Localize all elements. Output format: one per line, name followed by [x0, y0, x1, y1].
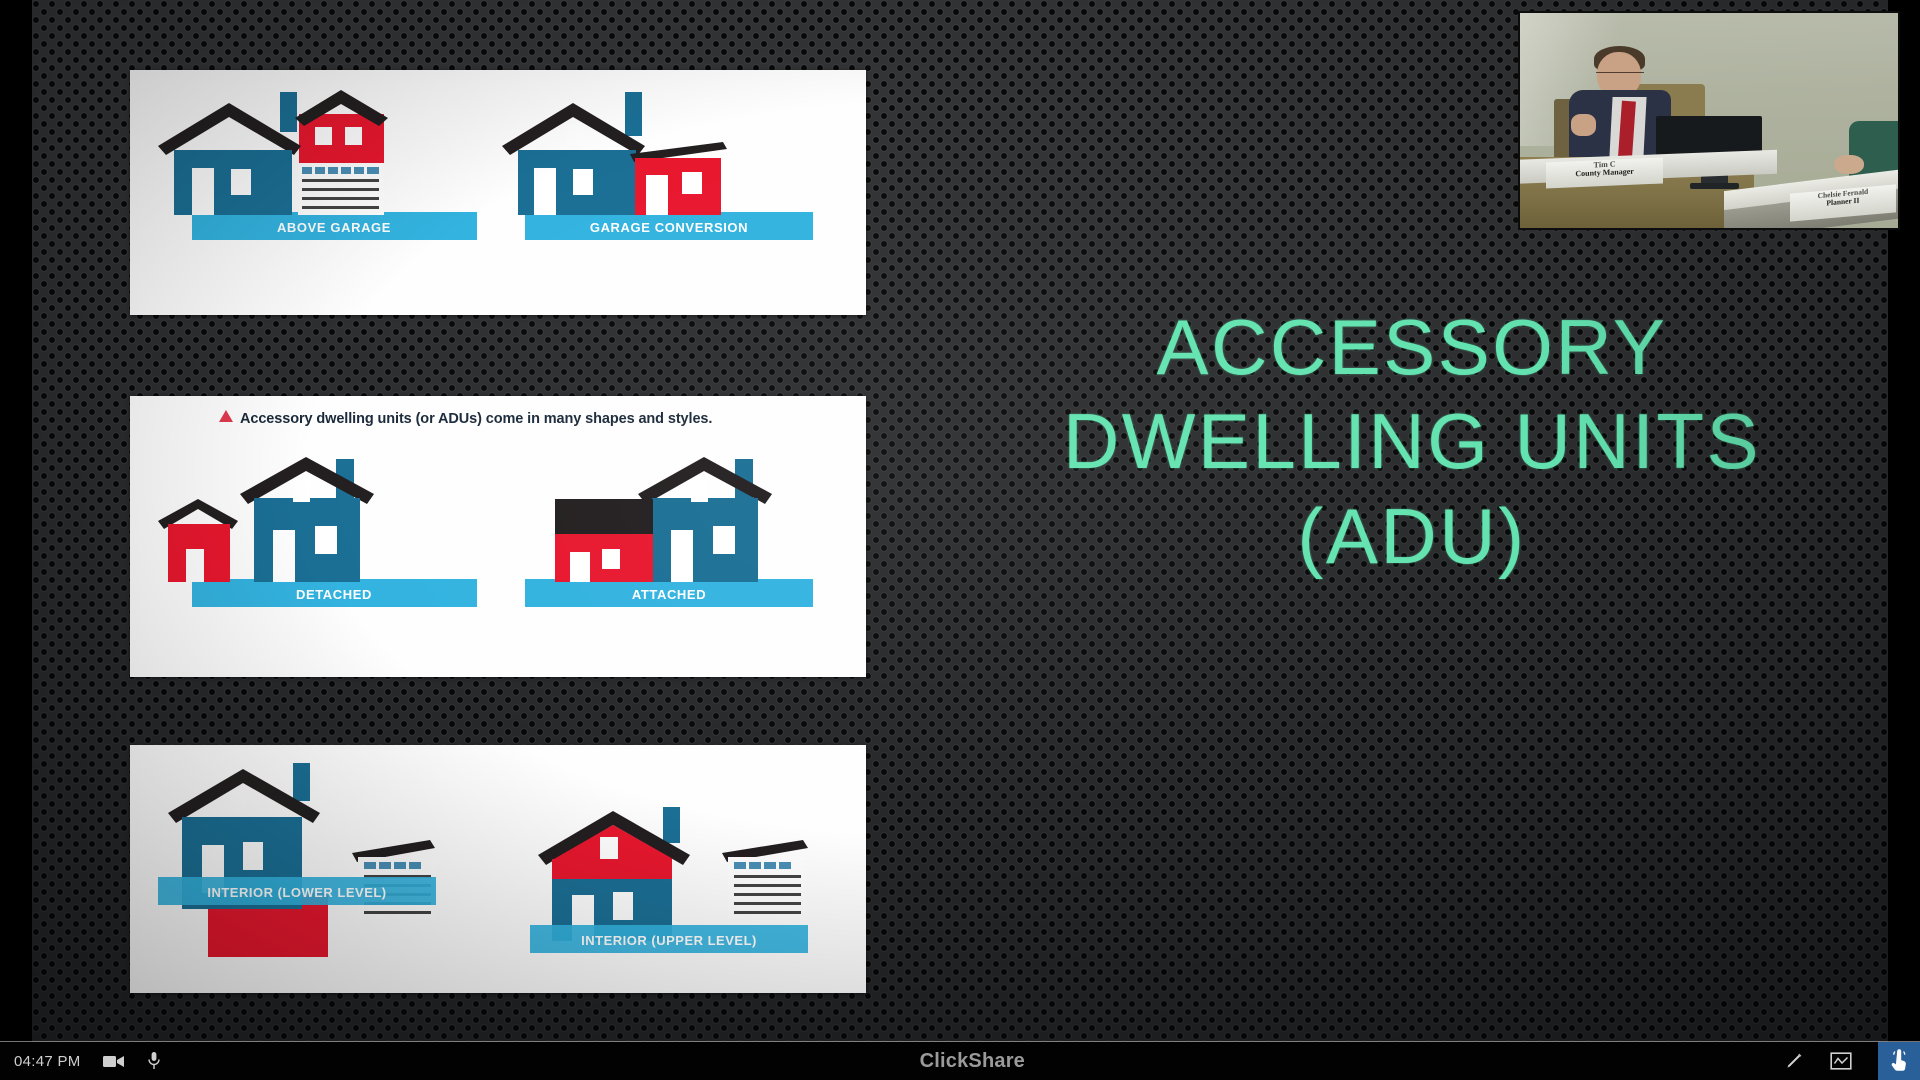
clock: 04:47 PM — [14, 1053, 81, 1070]
panel-caption: Accessory dwelling units (or ADUs) come … — [240, 411, 712, 427]
label-interior-upper: INTERIOR (UPPER LEVEL) — [581, 933, 757, 948]
chart-annotate-icon[interactable] — [1830, 1051, 1852, 1071]
slide-image-detached-attached: Accessory dwelling units (or ADUs) come … — [130, 396, 866, 677]
taskbar-center-group: ClickShare — [161, 1050, 1784, 1073]
second-person-hand — [1834, 155, 1864, 174]
screen-root: ABOVE GARAGE GARAGE CONVERSION — [0, 0, 1920, 1080]
touch-pointer-button[interactable] — [1878, 1042, 1920, 1080]
label-garage-conversion: GARAGE CONVERSION — [590, 220, 748, 235]
label-detached: DETACHED — [296, 587, 372, 602]
touch-pointer-icon — [1889, 1049, 1909, 1073]
microphone-icon[interactable] — [147, 1051, 161, 1071]
slide-image-garage-types: ABOVE GARAGE GARAGE CONVERSION — [130, 70, 866, 315]
taskbar-left-group: 04:47 PM — [0, 1051, 161, 1071]
speaker-glasses — [1596, 72, 1643, 78]
pencil-icon[interactable] — [1784, 1051, 1804, 1071]
speaker-hand — [1571, 114, 1596, 136]
webcam-overlay[interactable]: Tim C County Manager Chelsie Fernald Pla… — [1518, 11, 1900, 230]
monitor-base — [1690, 183, 1739, 189]
label-interior-lower: INTERIOR (LOWER LEVEL) — [207, 885, 386, 900]
slide-title: ACCESSORY DWELLING UNITS (ADU) — [1012, 300, 1812, 583]
slide-image-interior-levels: INTERIOR (LOWER LEVEL) — [130, 745, 866, 993]
detached-attached-illustration: Accessory dwelling units (or ADUs) come … — [130, 396, 866, 677]
interior-levels-illustration: INTERIOR (LOWER LEVEL) — [130, 745, 866, 993]
label-attached: ATTACHED — [632, 587, 706, 602]
video-camera-icon[interactable] — [103, 1053, 125, 1069]
taskbar-right-group — [1784, 1042, 1920, 1080]
label-above-garage: ABOVE GARAGE — [277, 220, 391, 235]
clickshare-brand-label: ClickShare — [920, 1050, 1025, 1073]
garage-types-illustration: ABOVE GARAGE GARAGE CONVERSION — [130, 70, 866, 315]
nameplate-county-manager: Tim C County Manager — [1546, 158, 1663, 189]
clickshare-taskbar: 04:47 PM ClickShare — [0, 1042, 1920, 1080]
